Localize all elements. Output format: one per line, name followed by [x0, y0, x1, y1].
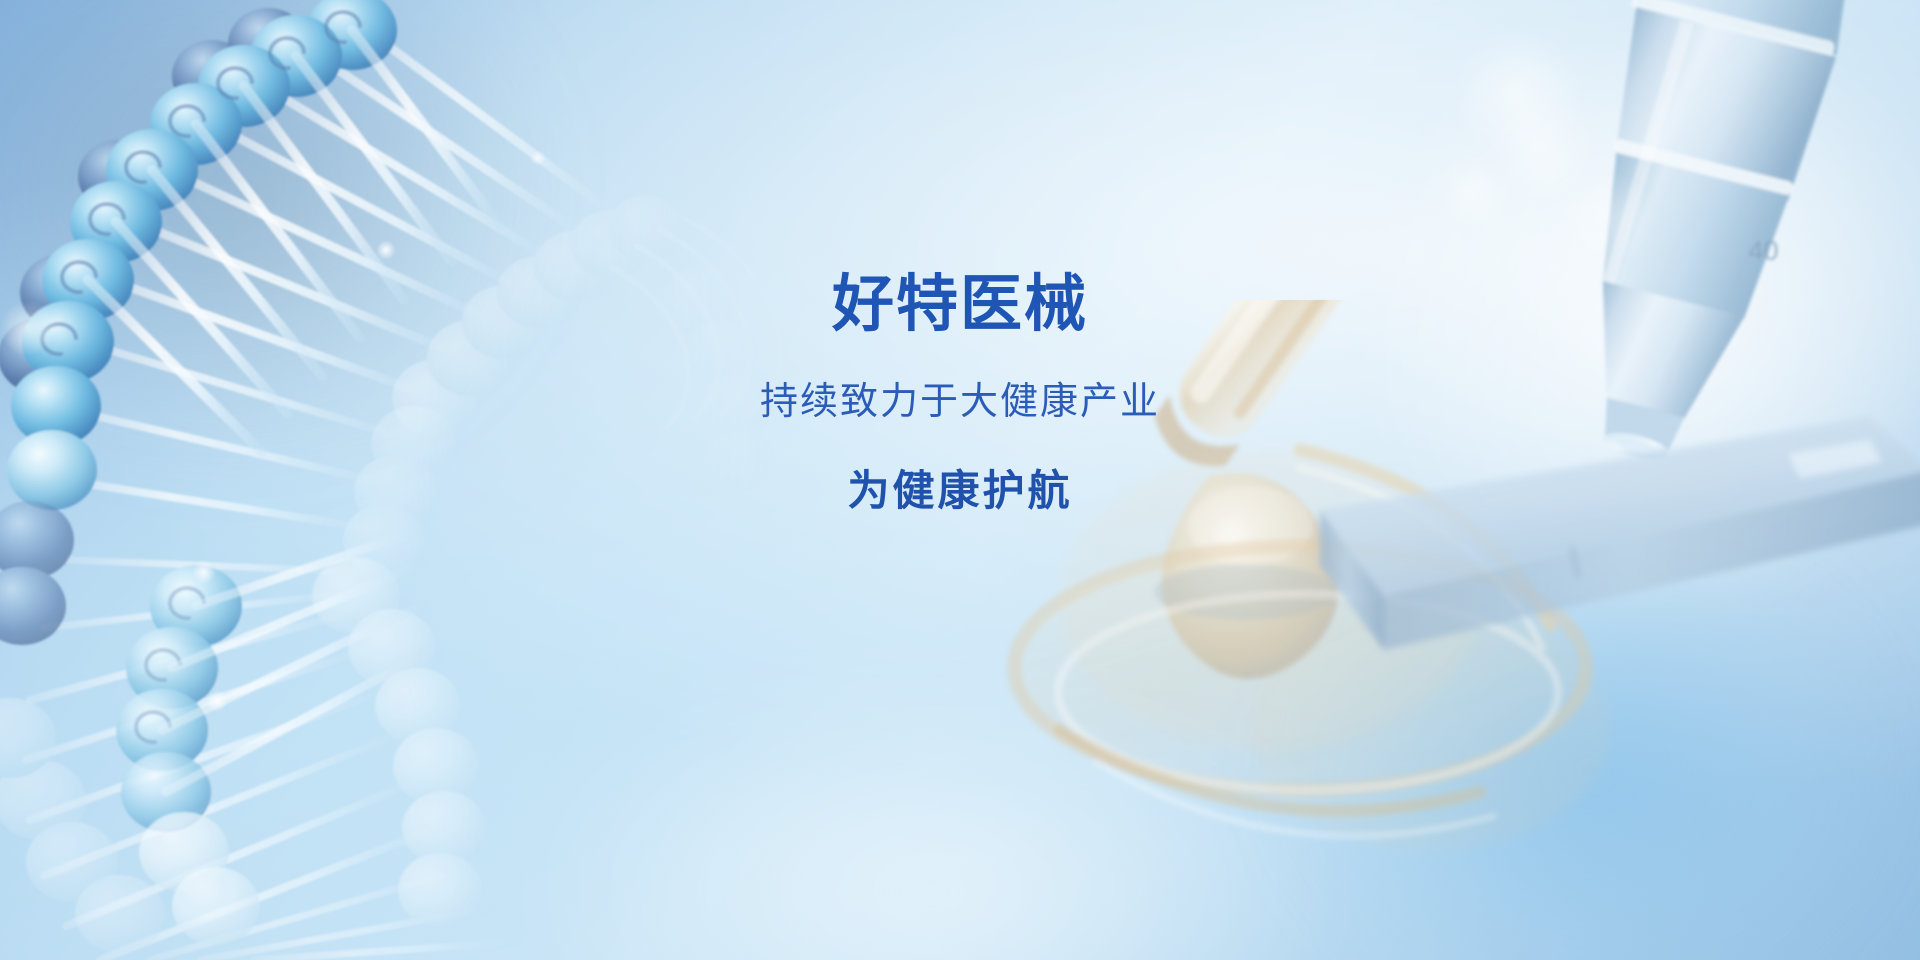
lens-marking-text: 40: [1748, 236, 1778, 266]
hero-text-block: 好特医械 持续致力于大健康产业 为健康护航: [0, 272, 1920, 514]
hero-slogan: 为健康护航: [0, 468, 1920, 514]
hero-subtitle: 持续致力于大健康产业: [0, 382, 1920, 424]
page-title: 好特医械: [0, 272, 1920, 338]
hero-banner: 40: [0, 0, 1920, 960]
